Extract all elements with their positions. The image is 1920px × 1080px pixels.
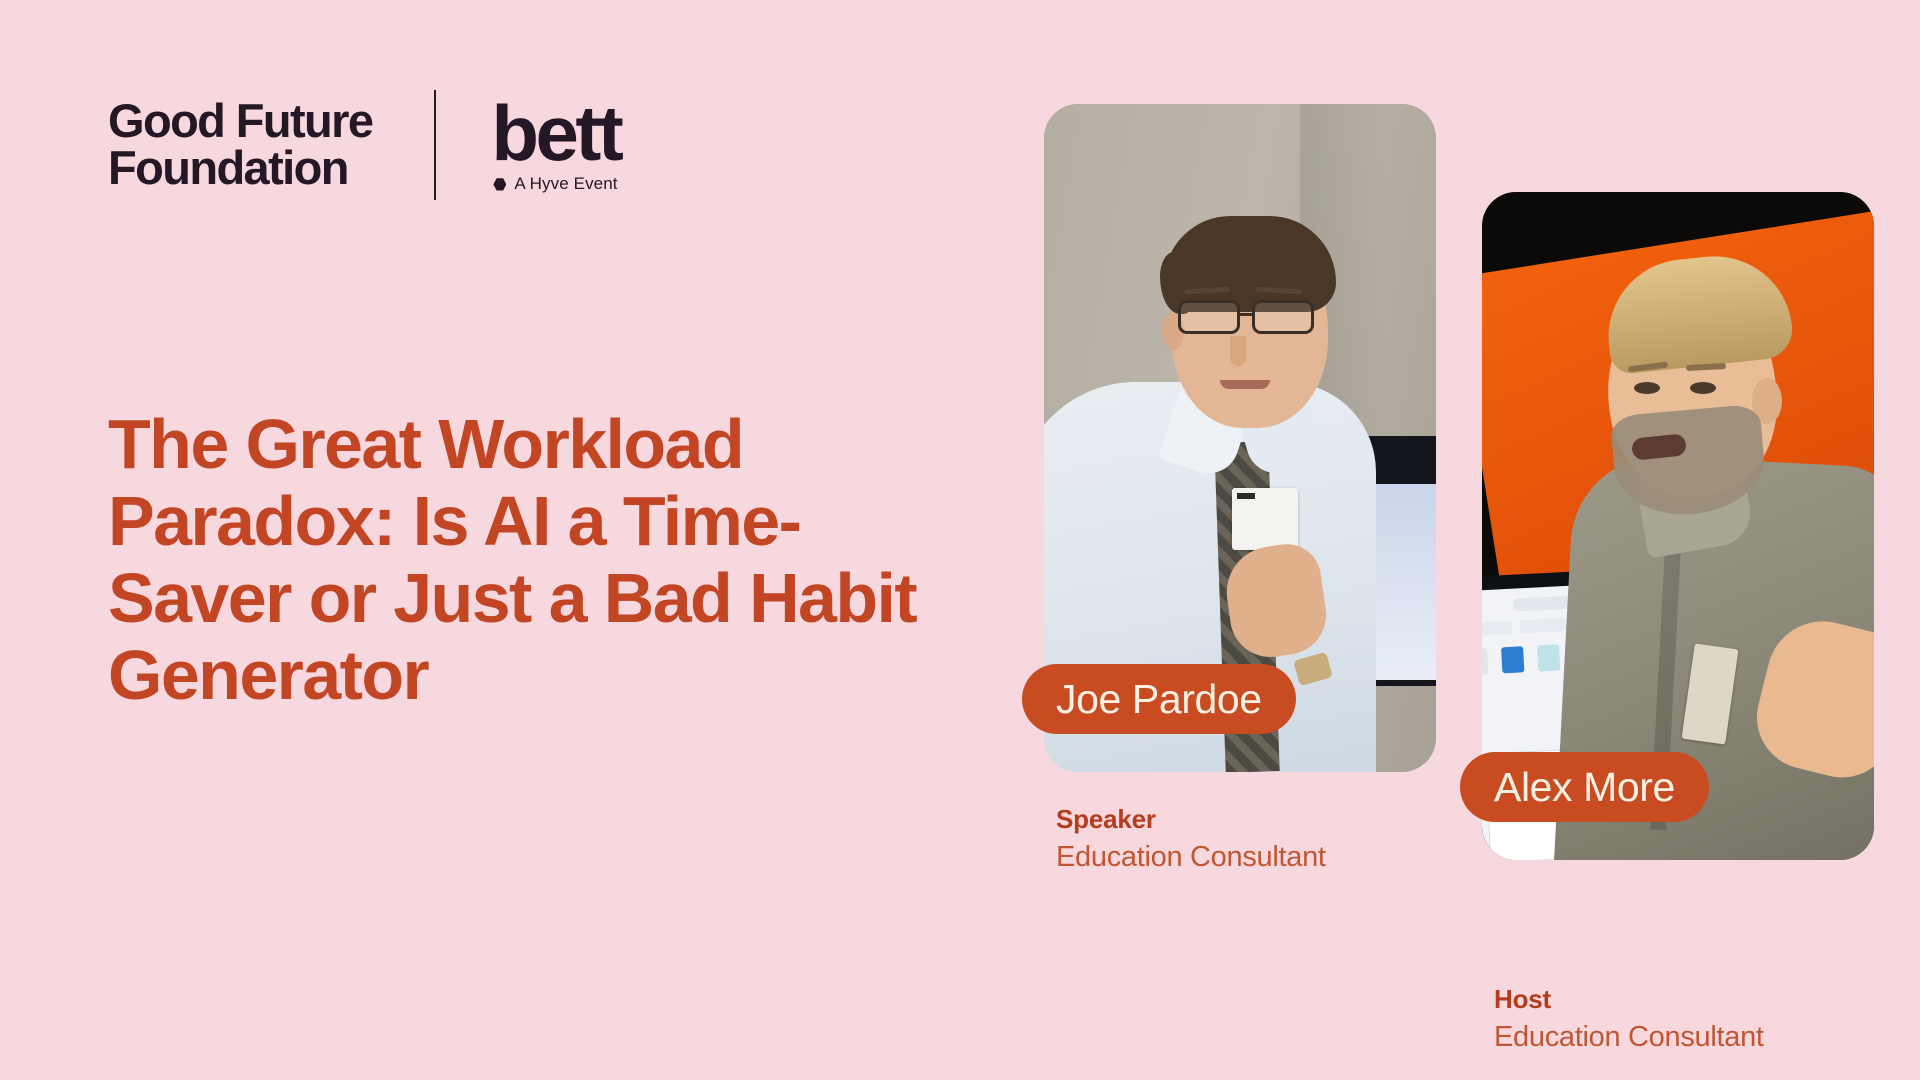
speaker-role-label: Speaker bbox=[1056, 804, 1476, 835]
gff-logo-line2: Foundation bbox=[108, 145, 372, 192]
host-photo-screen-icon bbox=[1501, 646, 1524, 673]
host-name-badge: Alex More bbox=[1460, 752, 1709, 822]
session-title: The Great Workload Paradox: Is AI a Time… bbox=[108, 406, 968, 714]
promo-slide: Good Future Foundation bett A Hyve Event… bbox=[0, 0, 1920, 1080]
logo-bar: Good Future Foundation bett A Hyve Event bbox=[108, 86, 620, 204]
speaker-job-title: Education Consultant bbox=[1056, 841, 1476, 874]
host-photo-screen-icon bbox=[1537, 644, 1560, 671]
speaker-photo-glasses bbox=[1176, 300, 1334, 334]
host-job-title: Education Consultant bbox=[1494, 1021, 1914, 1054]
bett-logo: bett A Hyve Event bbox=[491, 96, 620, 195]
host-role-block: Host Education Consultant bbox=[1494, 984, 1914, 1054]
host-photo-screen-chip bbox=[1520, 618, 1567, 633]
speaker-photo-nose bbox=[1230, 336, 1246, 366]
speaker-photo-mouth bbox=[1220, 380, 1270, 389]
speaker-photo-hair bbox=[1164, 216, 1336, 312]
host-role-label: Host bbox=[1494, 984, 1914, 1015]
speaker-photo-name-card bbox=[1232, 488, 1298, 550]
speaker-photo-lens-right bbox=[1252, 300, 1314, 334]
host-photo-screen-chip bbox=[1482, 621, 1512, 636]
good-future-foundation-logo: Good Future Foundation bbox=[108, 98, 372, 191]
logo-divider bbox=[434, 90, 436, 200]
speaker-name-badge: Joe Pardoe bbox=[1022, 664, 1296, 734]
host-photo-screen-icon bbox=[1482, 648, 1488, 675]
host-photo-eye-left bbox=[1634, 382, 1660, 394]
host-photo-screen-ribbon bbox=[1482, 618, 1566, 636]
bett-tagline: A Hyve Event bbox=[493, 174, 620, 194]
person-card-speaker: Joe Pardoe Speaker Education Consultant bbox=[1044, 104, 1436, 772]
hexagon-dot-icon bbox=[493, 178, 506, 191]
speaker-role-block: Speaker Education Consultant bbox=[1056, 804, 1476, 874]
host-photo-eye-right bbox=[1690, 382, 1716, 394]
gff-logo-line1: Good Future bbox=[108, 98, 372, 145]
speaker-photo-lens-left bbox=[1178, 300, 1240, 334]
bett-wordmark: bett bbox=[491, 98, 620, 170]
bett-tagline-text: A Hyve Event bbox=[514, 174, 617, 194]
person-card-host: Alex More Host Education Consultant bbox=[1482, 192, 1874, 860]
